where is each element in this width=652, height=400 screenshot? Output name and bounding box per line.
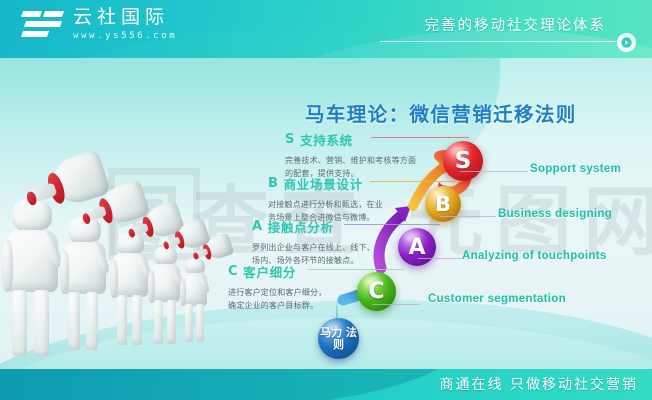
bottom-swoosh bbox=[0, 369, 460, 400]
step-letter-1: B bbox=[268, 176, 279, 191]
step-sphere-c: C bbox=[357, 272, 396, 311]
step-block-0: S 支持系统 完善技术、营销、维护和考核等方面 的配套，提供支持。 bbox=[285, 130, 460, 180]
top-banner: 云社国际 www.ys556.com 完善的移动社交理论体系 bbox=[0, 0, 652, 58]
brand-text: 云社国际 www.ys556.com bbox=[73, 8, 177, 41]
step-sphere-letter-0: S bbox=[455, 148, 472, 174]
english-label-2: Analyzing of touchpoints bbox=[462, 250, 607, 262]
step-sphere-letter-1: B bbox=[435, 192, 451, 216]
power-rule-badge: 马力 法则 bbox=[318, 318, 359, 359]
bottom-banner: 商通在线 只做移动社交营销 bbox=[0, 369, 652, 400]
step-sphere-letter-2: A bbox=[408, 235, 425, 260]
step-sphere-letter-3: C bbox=[368, 279, 384, 304]
english-label-3: Customer segmentation bbox=[428, 293, 566, 305]
ys-logo-icon bbox=[22, 9, 64, 41]
step-heading-text-0: 支持系统 bbox=[300, 130, 353, 149]
person-figure-5 bbox=[180, 258, 214, 346]
header-rule bbox=[380, 41, 620, 42]
header-slogan: 完善的移动社交理论体系 bbox=[425, 14, 607, 35]
megaphone-people-illustration bbox=[0, 150, 240, 365]
step-sphere-a: A bbox=[398, 228, 436, 266]
step-heading-text-1: 商业场景设计 bbox=[284, 174, 363, 193]
brand-name: 云社国际 bbox=[73, 8, 177, 27]
chevron-right-icon[interactable] bbox=[617, 33, 636, 52]
step-rule-3 bbox=[308, 269, 404, 270]
step-rule-0 bbox=[371, 137, 469, 138]
english-label-0: Sopport system bbox=[530, 163, 621, 175]
step-heading-0: S 支持系统 bbox=[285, 130, 460, 149]
step-rule-2 bbox=[344, 224, 440, 225]
step-heading-1: B 商业场景设计 bbox=[268, 174, 453, 193]
step-letter-3: C bbox=[228, 264, 238, 279]
step-rule-1 bbox=[370, 181, 462, 182]
english-leader-3 bbox=[372, 304, 420, 305]
english-leader-1 bbox=[440, 216, 496, 217]
brand-url: www.ys556.com bbox=[73, 32, 177, 41]
english-label-1: Business designing bbox=[498, 208, 612, 220]
page-title: 马车理论：微信营销迁移法则 bbox=[305, 98, 577, 127]
poster-canvas: 图查查 元图网 云社国际 www.ys556.com 完善的移动社交理论体系 bbox=[0, 0, 652, 400]
brand-logo[interactable]: 云社国际 www.ys556.com bbox=[22, 8, 177, 41]
step-letter-2: A bbox=[252, 219, 263, 234]
power-rule-badge-text: 马力 法则 bbox=[318, 327, 359, 350]
step-letter-0: S bbox=[285, 132, 295, 147]
footer-slogan: 商通在线 只做移动社交营销 bbox=[440, 374, 638, 394]
step-heading-text-2: 接触点分析 bbox=[268, 217, 334, 236]
step-heading-text-3: 客户细分 bbox=[243, 262, 296, 281]
